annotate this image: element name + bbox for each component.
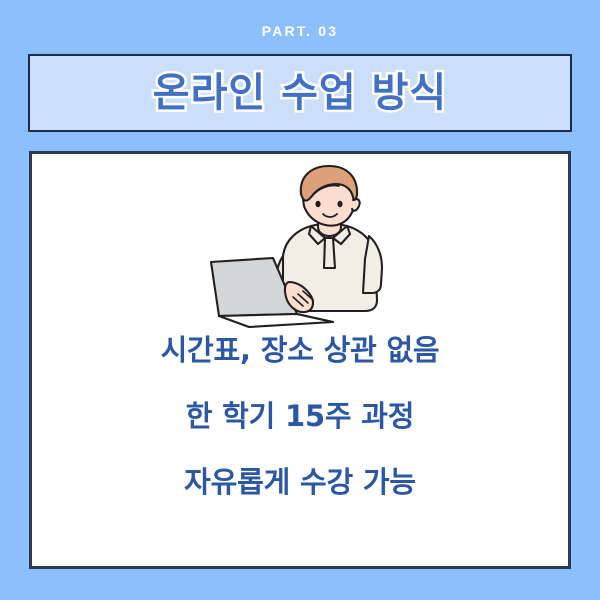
- title-banner: 온라인 수업 방식: [28, 54, 572, 132]
- content-card: 시간표, 장소 상관 없음 한 학기 15주 과정 자유롭게 수강 가능: [29, 151, 571, 569]
- body-line-2: 한 학기 15주 과정: [32, 398, 568, 434]
- body-line-3: 자유롭게 수강 가능: [32, 464, 568, 500]
- man-typing-on-laptop-illustration: [205, 164, 395, 329]
- page-title: 온라인 수업 방식: [153, 67, 447, 119]
- part-label: PART. 03: [0, 22, 600, 40]
- body-line-1: 시간표, 장소 상관 없음: [32, 332, 568, 368]
- body-lines: 시간표, 장소 상관 없음 한 학기 15주 과정 자유롭게 수강 가능: [32, 332, 568, 500]
